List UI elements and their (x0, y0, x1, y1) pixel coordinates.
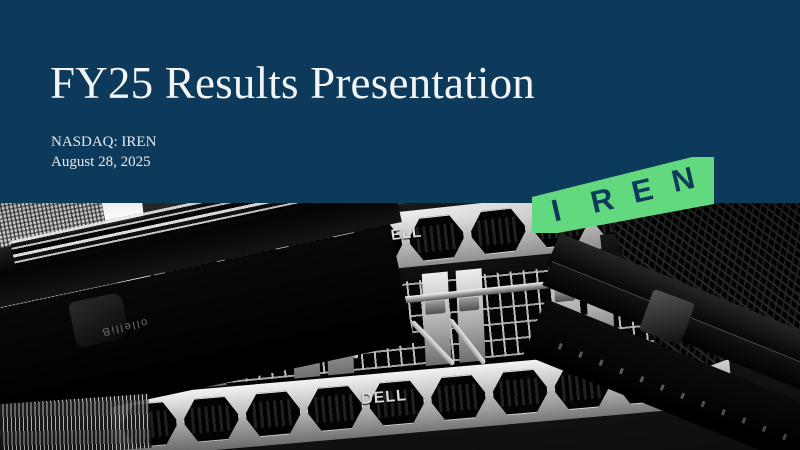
date-line: August 28, 2025 (51, 152, 151, 172)
ticker-line: NASDAQ: IREN (51, 132, 156, 152)
page-title: FY25 Results Presentation (50, 57, 535, 109)
photo-content: DELL (0, 203, 800, 450)
iren-logo: I R E N (532, 157, 714, 233)
logo-letters: I R E N (532, 157, 714, 233)
presentation-slide: DELL (0, 0, 800, 450)
logo-letter-n: N (668, 160, 698, 200)
logo-letter-e: E (628, 171, 656, 211)
datacenter-photo: DELL (0, 203, 800, 450)
logo-letter-i: I (548, 192, 565, 229)
photo-vignette (0, 203, 800, 450)
logo-letter-r: R (587, 181, 617, 221)
